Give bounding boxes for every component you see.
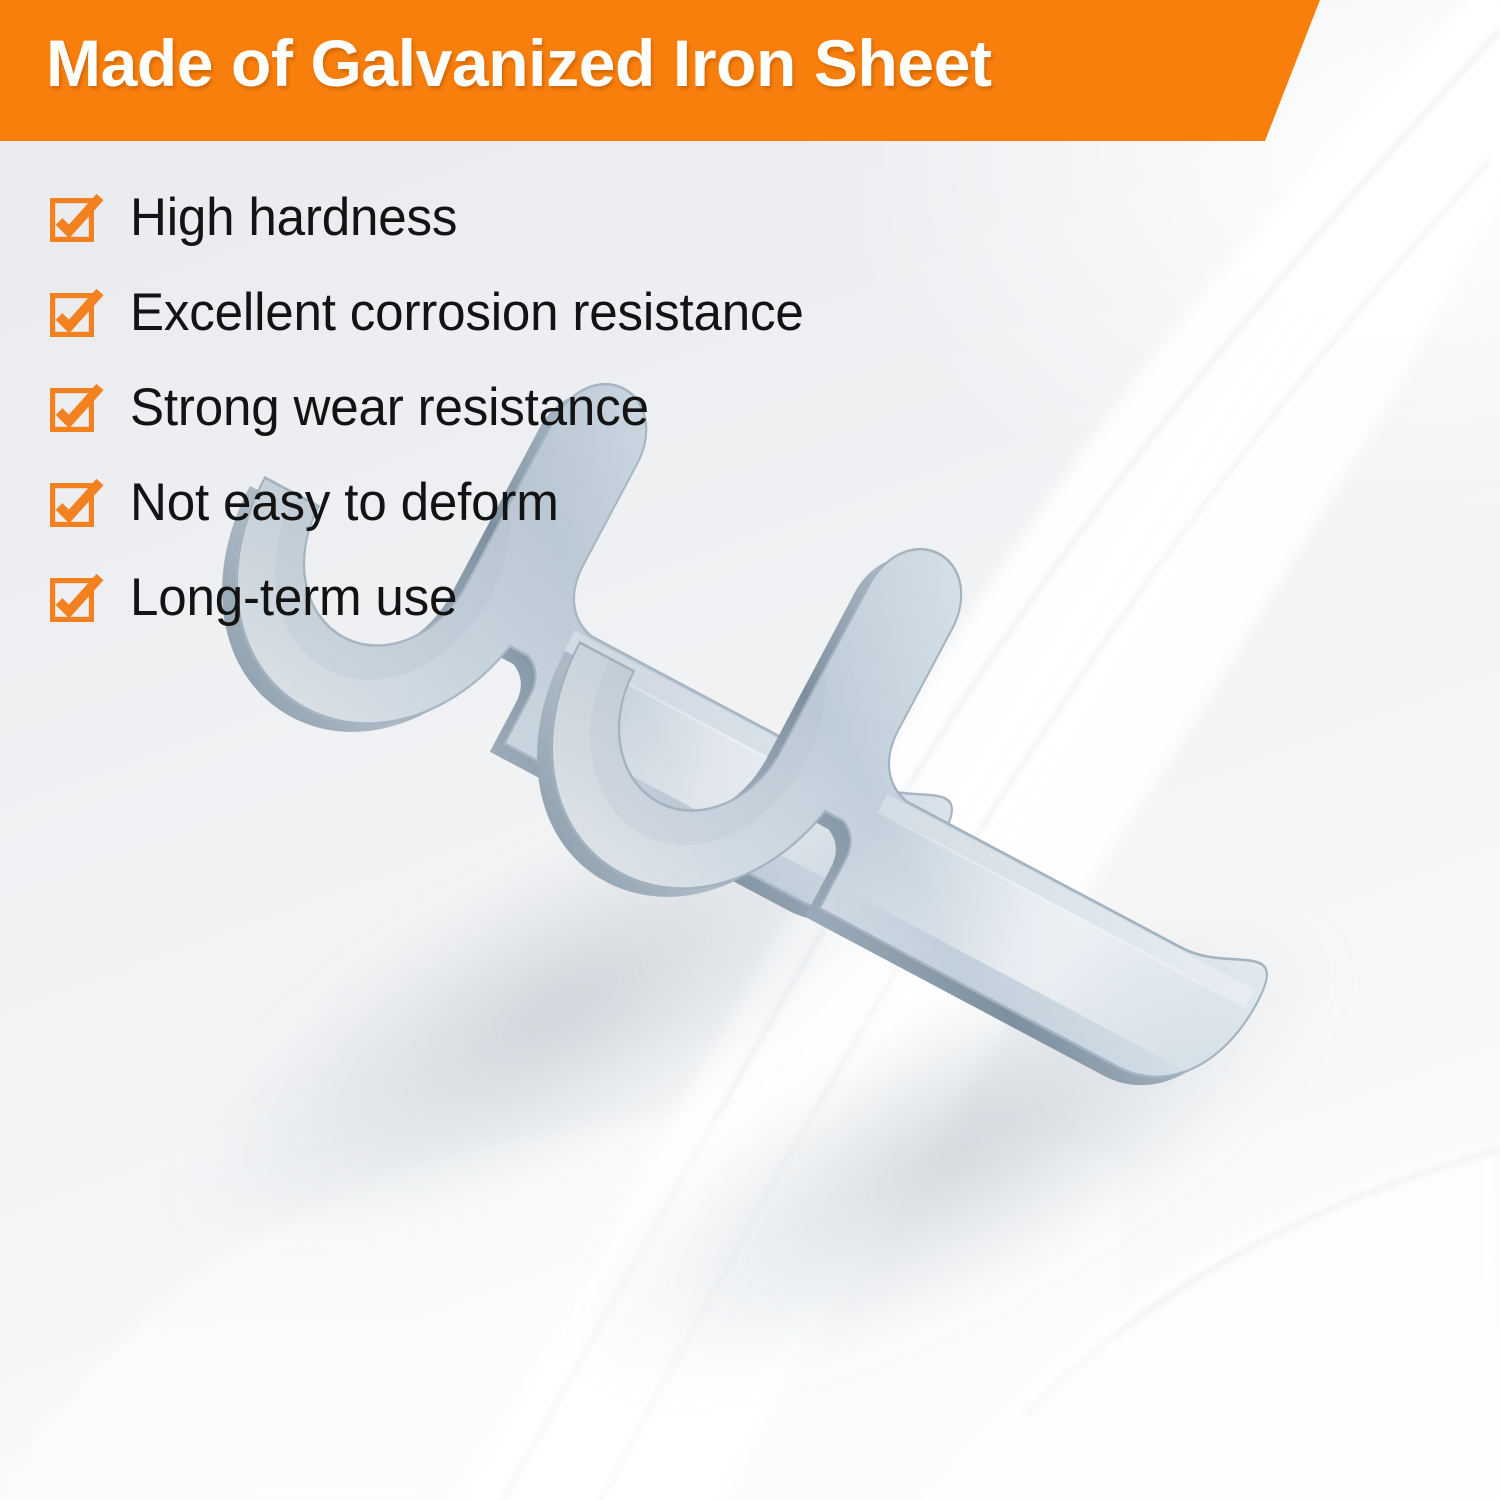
list-item-label: High hardness: [130, 191, 457, 244]
list-item: High hardness: [50, 172, 828, 267]
list-item: Excellent corrosion resistance: [50, 267, 828, 362]
page-title: Made of Galvanized Iron Sheet: [46, 25, 992, 101]
feature-list: High hardness Excellent corrosion resist…: [50, 172, 828, 647]
list-item: Strong wear resistance: [50, 362, 828, 457]
checked-checkbox-icon: [50, 483, 94, 527]
list-item-label: Not easy to deform: [130, 476, 559, 529]
checked-checkbox-icon: [50, 388, 94, 432]
checked-checkbox-icon: [50, 578, 94, 622]
list-item-label: Long-term use: [130, 571, 457, 624]
list-item: Long-term use: [50, 552, 828, 647]
infographic-canvas: Made of Galvanized Iron Sheet High hardn…: [0, 0, 1500, 1500]
list-item-label: Strong wear resistance: [130, 381, 649, 434]
list-item-label: Excellent corrosion resistance: [130, 286, 804, 339]
checked-checkbox-icon: [50, 293, 94, 337]
list-item: Not easy to deform: [50, 457, 828, 552]
checked-checkbox-icon: [50, 198, 94, 242]
